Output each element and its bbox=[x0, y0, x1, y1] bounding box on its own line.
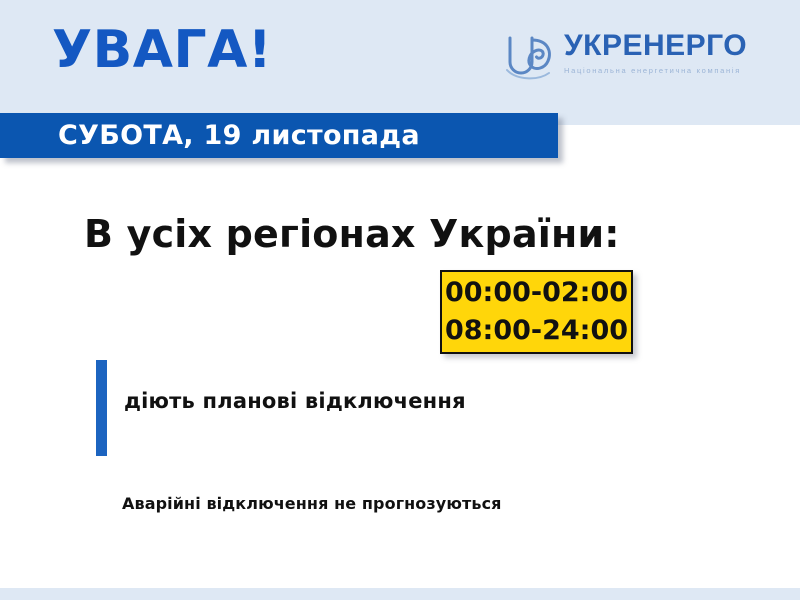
ukrenergo-logo: УКРЕНЕРГО Національна енергетична компан… bbox=[504, 30, 747, 82]
outage-note: діють планові відключення bbox=[124, 388, 466, 414]
bottom-strip bbox=[0, 588, 800, 600]
outage-notice-poster: УВАГА! УКРЕНЕРГО Національна енергетична… bbox=[0, 0, 800, 600]
emergency-footnote: Аварійні відключення не прогнозуються bbox=[122, 494, 502, 514]
date-banner-text: СУБОТА, 19 листопада bbox=[58, 121, 420, 151]
schedule-time-row-2: 08:00-24:00 bbox=[445, 312, 628, 350]
logo-wordmark: УКРЕНЕРГО Національна енергетична компан… bbox=[564, 30, 747, 76]
schedule-time-box: 00:00-02:00 08:00-24:00 bbox=[440, 270, 633, 354]
logo-tagline: Національна енергетична компанія bbox=[564, 66, 747, 76]
date-banner: СУБОТА, 19 листопада bbox=[0, 113, 558, 158]
accent-bar bbox=[96, 360, 107, 456]
logo-company-name: УКРЕНЕРГО bbox=[564, 30, 747, 62]
schedule-time-row-1: 00:00-02:00 bbox=[445, 274, 628, 312]
page-title: УВАГА! bbox=[52, 22, 272, 78]
region-heading: В усіх регіонах України: bbox=[84, 212, 620, 256]
ukrenergo-leaf-mark-icon bbox=[504, 32, 556, 82]
